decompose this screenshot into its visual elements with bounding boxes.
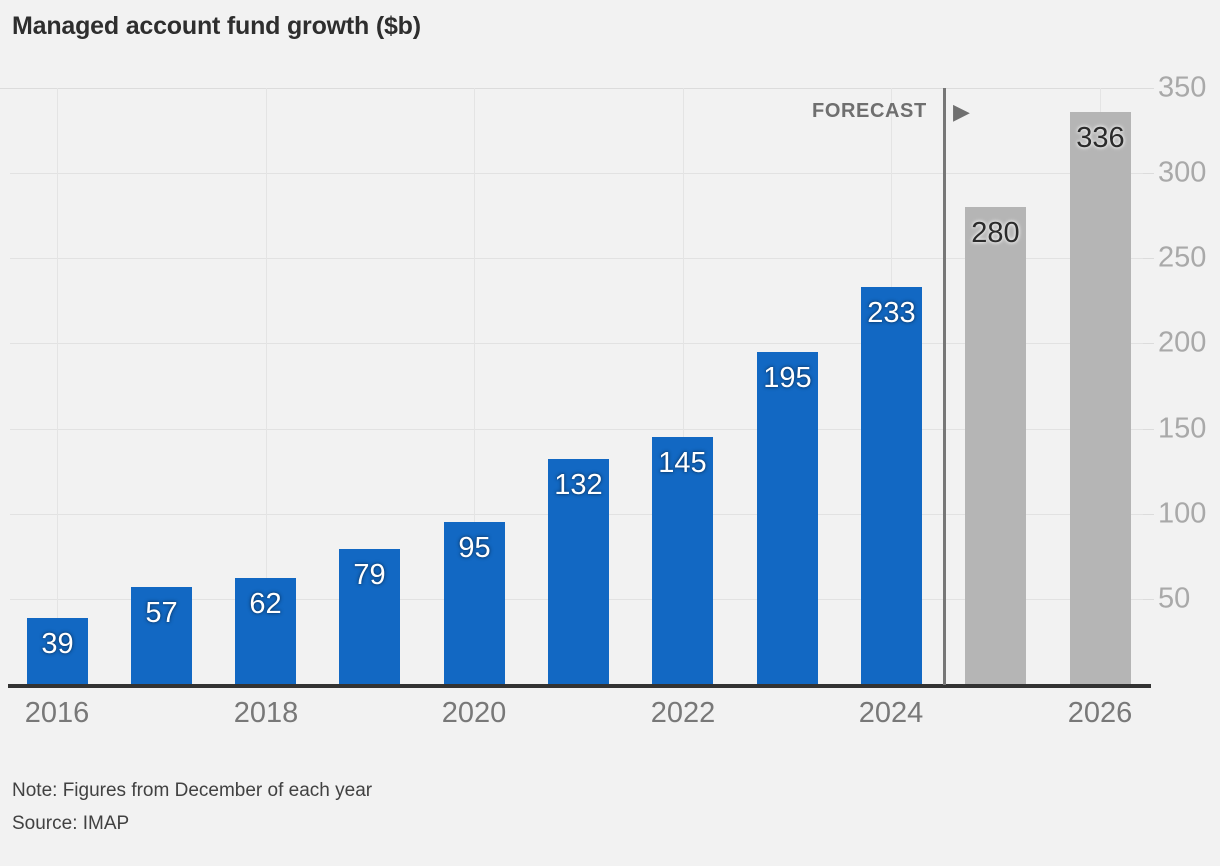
gridline-h (0, 88, 1150, 89)
y-tick-mark (1143, 514, 1154, 515)
y-tick-mark (1143, 343, 1154, 344)
y-tick-mark (1143, 258, 1154, 259)
forecast-arrow-icon: ▶ (953, 101, 970, 123)
gridline-v (57, 88, 58, 684)
bar-value-label: 132 (548, 469, 609, 502)
y-tick-label: 100 (1158, 497, 1206, 530)
bar-2026[interactable]: 336 (1070, 112, 1131, 684)
source-text: Source: IMAP (12, 813, 372, 835)
y-tick-mark (1143, 429, 1154, 430)
bar-2025[interactable]: 280 (965, 207, 1026, 684)
y-tick-label: 200 (1158, 327, 1206, 360)
bar-2017[interactable]: 57 (131, 587, 192, 684)
x-tick-label: 2022 (651, 697, 716, 730)
bar-value-label: 336 (1070, 122, 1131, 155)
bar-2020[interactable]: 95 (444, 522, 505, 684)
y-tick-mark (1143, 173, 1154, 174)
note-text: Note: Figures from December of each year (12, 780, 372, 802)
gridline-h (10, 173, 1150, 174)
bar-2023[interactable]: 195 (757, 352, 818, 684)
x-tick-label: 2016 (25, 697, 90, 730)
bar-2018[interactable]: 62 (235, 578, 296, 684)
y-tick-label: 150 (1158, 412, 1206, 445)
bar-2021[interactable]: 132 (548, 459, 609, 684)
forecast-label: FORECAST (812, 100, 927, 123)
y-tick-label: 300 (1158, 157, 1206, 190)
bar-value-label: 233 (861, 297, 922, 330)
y-tick-label: 250 (1158, 242, 1206, 275)
forecast-divider-line (943, 88, 946, 685)
bar-2016[interactable]: 39 (27, 618, 88, 684)
bar-2019[interactable]: 79 (339, 549, 400, 684)
y-tick-label: 50 (1158, 582, 1190, 615)
bar-2022[interactable]: 145 (652, 437, 713, 684)
y-tick-label: 350 (1158, 72, 1206, 105)
bar-value-label: 280 (965, 217, 1026, 250)
bar-2024[interactable]: 233 (861, 287, 922, 684)
y-tick-mark (1143, 599, 1154, 600)
x-tick-label: 2020 (442, 697, 507, 730)
x-tick-label: 2018 (234, 697, 299, 730)
x-tick-label: 2026 (1068, 697, 1133, 730)
bar-value-label: 39 (27, 628, 88, 661)
bar-value-label: 62 (235, 588, 296, 621)
y-tick-mark (1143, 88, 1154, 89)
x-axis-line (8, 684, 1151, 688)
bar-value-label: 195 (757, 362, 818, 395)
plot-area: 3957627995132145195233280336 (0, 88, 1150, 684)
x-tick-label: 2024 (859, 697, 924, 730)
bar-value-label: 79 (339, 559, 400, 592)
bar-value-label: 145 (652, 447, 713, 480)
footnotes: Note: Figures from December of each year… (12, 780, 372, 846)
bar-value-label: 95 (444, 532, 505, 565)
chart-title: Managed account fund growth ($b) (12, 12, 421, 41)
bar-value-label: 57 (131, 597, 192, 630)
